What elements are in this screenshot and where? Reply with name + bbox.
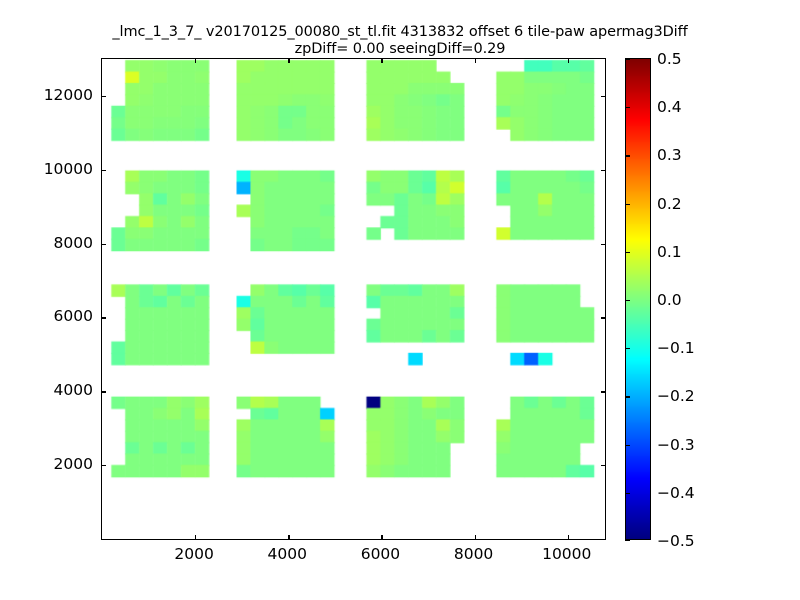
x-tick-label: 4000: [268, 545, 307, 563]
colorbar-tick-label: −0.5: [657, 532, 695, 550]
heatmap-image: [102, 59, 605, 539]
plot-title-line-1: _lmc_1_3_7_ v20170125_00080_st_tl.fit 43…: [0, 24, 800, 41]
y-tick-label: 6000: [54, 307, 93, 325]
x-tick-bottom: [288, 535, 289, 540]
colorbar-tick: [625, 300, 630, 301]
x-tick-bottom: [568, 535, 569, 540]
colorbar-tick-label: 0.5: [657, 50, 682, 68]
colorbar-tick-label: 0.4: [657, 98, 682, 116]
colorbar-tick: [625, 252, 630, 253]
y-tick-right: [601, 96, 606, 97]
colorbar-tick: [625, 155, 630, 156]
colorbar-tick-label: −0.1: [657, 339, 695, 357]
x-tick-bottom: [475, 535, 476, 540]
y-tick-right: [601, 317, 606, 318]
x-tick-bottom: [195, 535, 196, 540]
colorbar-tick: [625, 348, 630, 349]
y-tick-left: [101, 317, 106, 318]
y-tick-right: [601, 391, 606, 392]
colorbar-tick-label: 0.2: [657, 195, 682, 213]
x-tick-top: [568, 58, 569, 63]
x-tick-top: [288, 58, 289, 63]
colorbar-tick-label: −0.3: [657, 436, 695, 454]
x-tick-top: [475, 58, 476, 63]
x-tick-top: [381, 58, 382, 63]
y-tick-label: 10000: [44, 160, 93, 178]
colorbar-tick: [625, 540, 630, 541]
colorbar-tick: [625, 204, 630, 205]
colorbar-tick-label: 0.0: [657, 291, 682, 309]
y-tick-right: [601, 244, 606, 245]
colorbar-tick: [625, 59, 630, 60]
matplotlib-figure: _lmc_1_3_7_ v20170125_00080_st_tl.fit 43…: [0, 0, 800, 600]
y-tick-right: [601, 170, 606, 171]
x-tick-label: 6000: [361, 545, 400, 563]
y-tick-label: 12000: [44, 86, 93, 104]
x-tick-bottom: [381, 535, 382, 540]
colorbar-tick-label: 0.3: [657, 146, 682, 164]
colorbar-tick: [625, 107, 630, 108]
colorbar-axes[interactable]: −0.5−0.4−0.3−0.2−0.10.00.10.20.30.40.5: [625, 58, 651, 540]
y-tick-label: 8000: [54, 234, 93, 252]
y-tick-left: [101, 465, 106, 466]
x-tick-label: 2000: [174, 545, 213, 563]
colorbar-tick: [625, 493, 630, 494]
colorbar-tick-label: −0.2: [657, 387, 695, 405]
y-tick-left: [101, 391, 106, 392]
colorbar-gradient: [626, 59, 650, 539]
y-tick-left: [101, 96, 106, 97]
colorbar-tick-label: 0.1: [657, 243, 682, 261]
x-tick-label: 10000: [542, 545, 591, 563]
y-tick-left: [101, 244, 106, 245]
y-tick-label: 2000: [54, 455, 93, 473]
y-tick-left: [101, 170, 106, 171]
colorbar-tick-label: −0.4: [657, 484, 695, 502]
colorbar-tick: [625, 445, 630, 446]
x-tick-label: 8000: [454, 545, 493, 563]
x-tick-top: [195, 58, 196, 63]
y-tick-label: 4000: [54, 381, 93, 399]
heatmap-axes[interactable]: [101, 58, 606, 540]
y-tick-right: [601, 465, 606, 466]
colorbar-tick: [625, 396, 630, 397]
